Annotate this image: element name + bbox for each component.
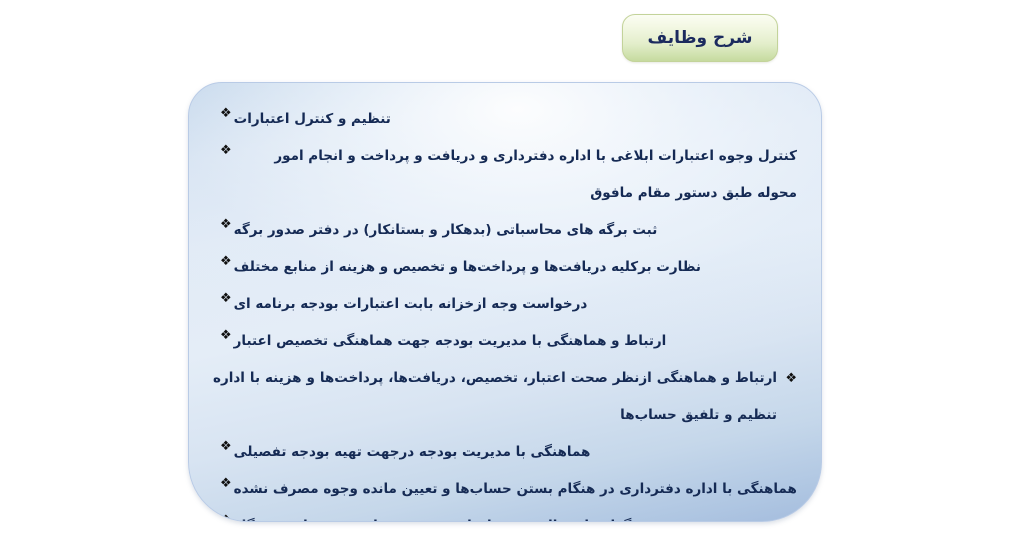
slide-canvas: شرح وظایف ❖تنظیم و کنترل اعتبارات❖کنترل … bbox=[0, 0, 1010, 556]
task-list-item: ❖هماهنگی با اداره دفترداری در هنگام بستن… bbox=[213, 471, 797, 508]
task-list-item: ❖درخواست وجه ازخزانه بابت اعتبارات بودجه… bbox=[213, 286, 797, 323]
diamond-bullet-icon: ❖ bbox=[220, 323, 232, 348]
task-list-item: ❖هماهنگی با مدیریت بودجه درجهت تهیه بودج… bbox=[213, 434, 797, 471]
task-list-item: ❖ارتباط و هماهنگی ازنظر صحت اعتبار، تخصی… bbox=[213, 360, 797, 434]
tasks-list: ❖تنظیم و کنترل اعتبارات❖کنترل وجوه اعتبا… bbox=[189, 83, 821, 522]
diamond-bullet-icon: ❖ bbox=[220, 471, 232, 496]
task-text: تهیه گزارشات مالی جهت اتخاذ تصمیم مدیران… bbox=[234, 508, 664, 522]
diamond-bullet-icon: ❖ bbox=[220, 212, 232, 237]
task-text: هماهنگی با مدیریت بودجه درجهت تهیه بودجه… bbox=[234, 434, 591, 471]
tasks-panel: ❖تنظیم و کنترل اعتبارات❖کنترل وجوه اعتبا… bbox=[188, 82, 822, 522]
task-text: کنترل وجوه اعتبارات ابلاغی با اداره دفتر… bbox=[234, 138, 797, 212]
task-list-item: ❖کنترل وجوه اعتبارات ابلاغی با اداره دفت… bbox=[213, 138, 797, 212]
task-text: نظارت برکلیه دریافت‌ها و پرداخت‌ها و تخص… bbox=[234, 249, 701, 286]
task-list-item: ❖نظارت برکلیه دریافت‌ها و پرداخت‌ها و تخ… bbox=[213, 249, 797, 286]
task-text: ارتباط و هماهنگی با مدیریت بودجه جهت هما… bbox=[234, 323, 667, 360]
page-title-badge: شرح وظایف bbox=[622, 14, 778, 62]
diamond-bullet-icon: ❖ bbox=[220, 434, 232, 459]
task-text: ارتباط و هماهنگی ازنظر صحت اعتبار، تخصیص… bbox=[213, 360, 797, 434]
diamond-bullet-icon: ❖ bbox=[220, 508, 232, 522]
diamond-bullet-icon: ❖ bbox=[220, 249, 232, 274]
task-list-item: ❖ثبت برگه های محاسباتی (بدهکار و بستانکا… bbox=[213, 212, 797, 249]
task-list-item: ❖تنظیم و کنترل اعتبارات bbox=[213, 101, 797, 138]
diamond-bullet-icon: ❖ bbox=[785, 360, 797, 397]
diamond-bullet-icon: ❖ bbox=[220, 286, 232, 311]
task-text: ثبت برگه های محاسباتی (بدهکار و بستانکار… bbox=[234, 212, 658, 249]
task-list-item: ❖تهیه گزارشات مالی جهت اتخاذ تصمیم مدیرا… bbox=[213, 508, 797, 522]
task-list-item: ❖ارتباط و هماهنگی با مدیریت بودجه جهت هم… bbox=[213, 323, 797, 360]
task-text: هماهنگی با اداره دفترداری در هنگام بستن … bbox=[234, 471, 797, 508]
page-title: شرح وظایف bbox=[647, 28, 752, 48]
task-text: تنظیم و کنترل اعتبارات bbox=[234, 101, 391, 138]
diamond-bullet-icon: ❖ bbox=[220, 138, 232, 163]
task-text: درخواست وجه ازخزانه بابت اعتبارات بودجه … bbox=[234, 286, 588, 323]
diamond-bullet-icon: ❖ bbox=[220, 101, 232, 126]
